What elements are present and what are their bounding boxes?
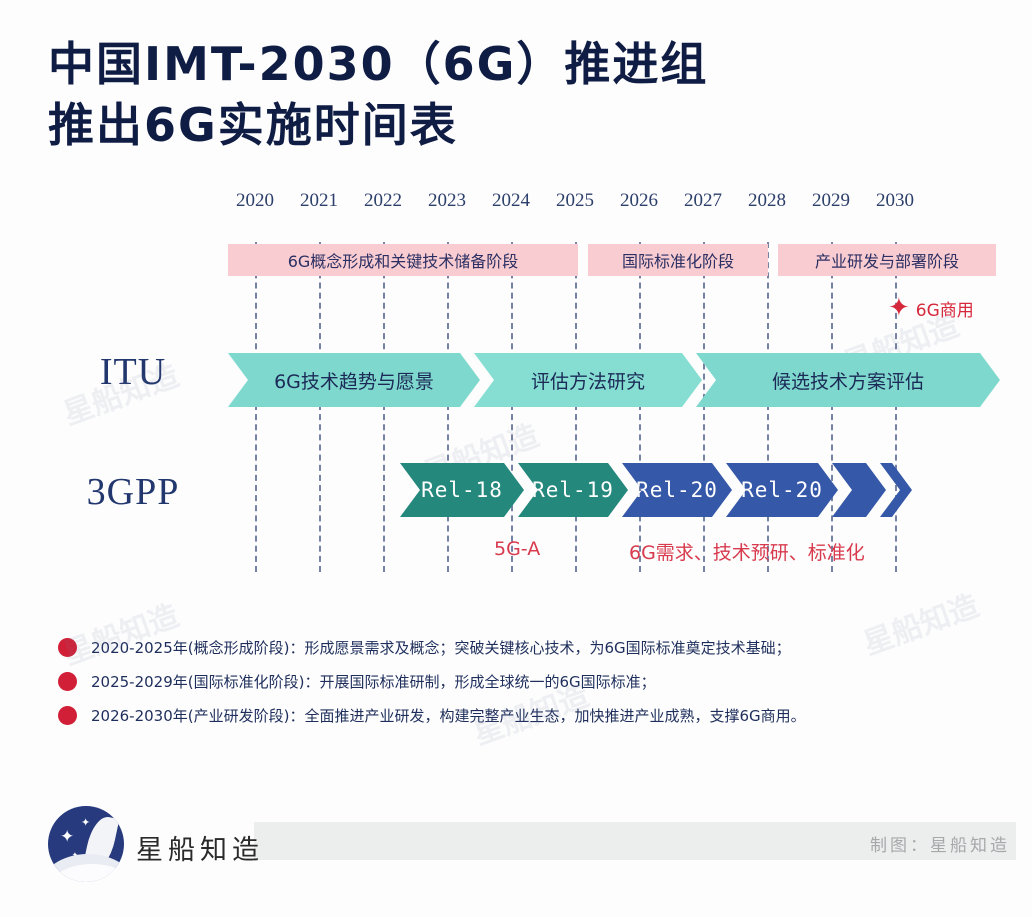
gridline-2024 (511, 242, 513, 572)
gpp-segment-5[interactable] (832, 463, 886, 517)
gridline-2026 (639, 242, 641, 572)
year-tick-2020: 2020 (219, 190, 291, 212)
year-tick-2022: 2022 (347, 190, 419, 212)
infographic-page: 星船知造 星船知造 星船知造 星船知造 星船知造 星船知造 中国IMT-2030… (0, 0, 1032, 917)
gpp-segment-rel20-a-label: Rel-20 (636, 478, 718, 502)
gridline-2022 (383, 242, 385, 572)
bullet-dot-icon (58, 706, 77, 725)
gridline-2028 (767, 242, 769, 572)
phase-band-standardization: 国际标准化阶段 (588, 244, 768, 276)
credit-label: 制图：星船知造 (870, 831, 1010, 856)
list-item: 2026-2030年(产业研发阶段)：全面推进产业研发，构建完整产业生态，加快推… (58, 698, 1018, 732)
title-line-1: 中国IMT-2030（6G）推进组 (48, 34, 948, 95)
bullet-dot-icon (58, 672, 77, 691)
phase-band-concept: 6G概念形成和关键技术储备阶段 (228, 244, 578, 276)
itu-segment-1[interactable]: 6G技术趋势与愿景 (228, 353, 480, 407)
year-tick-2021: 2021 (283, 190, 355, 212)
bullet-text-3: 2026-2030年(产业研发阶段)：全面推进产业研发，构建完整产业生态，加快推… (91, 705, 806, 726)
itu-segment-3[interactable]: 候选技术方案评估 (696, 353, 1000, 407)
milestone-label: 6G商用 (916, 296, 974, 321)
phase-band-industry: 产业研发与部署阶段 (778, 244, 996, 276)
gpp-segment-rel18[interactable]: Rel-18 (400, 463, 524, 517)
star-icon: ✦ (888, 295, 910, 321)
year-tick-2029: 2029 (795, 190, 867, 212)
bullet-dot-icon (58, 638, 77, 657)
gpp-segment-rel20-b[interactable]: Rel-20 (726, 463, 838, 517)
year-tick-2026: 2026 (603, 190, 675, 212)
gridline-2023 (447, 242, 449, 572)
gpp-segment-rel19-label: Rel-19 (532, 478, 614, 502)
gpp-segment-rel20-b-label: Rel-20 (741, 478, 823, 502)
bullet-text-2: 2025-2029年(国际标准化阶段)：开展国际标准研制，形成全球统一的6G国际… (91, 671, 656, 692)
list-item: 2020-2025年(概念形成阶段)：形成愿景需求及概念；突破关键核心技术，为6… (58, 630, 1018, 664)
year-tick-2025: 2025 (539, 190, 611, 212)
itu-track: 6G技术趋势与愿景 评估方法研究 候选技术方案评估 (0, 353, 1032, 407)
bullet-text-1: 2020-2025年(概念形成阶段)：形成愿景需求及概念；突破关键核心技术，为6… (91, 637, 791, 658)
gridline-2021 (319, 242, 321, 572)
gridline-2020 (255, 242, 257, 572)
list-item: 2025-2029年(国际标准化阶段)：开展国际标准研制，形成全球统一的6G国际… (58, 664, 1018, 698)
year-tick-2023: 2023 (411, 190, 483, 212)
gridline-2029 (831, 242, 833, 572)
brand-name: 星船知造 (136, 828, 264, 867)
gpp-segment-rel19[interactable]: Rel-19 (518, 463, 628, 517)
annotation-6g-requirements: 6G需求、技术预研、标准化 (629, 538, 865, 565)
year-tick-2024: 2024 (475, 190, 547, 212)
gridline-2027 (703, 242, 705, 572)
year-axis: 2020 2021 2022 2023 2024 2025 2026 2027 … (0, 190, 1032, 224)
annotation-5g-a: 5G-A (494, 538, 540, 560)
itu-segment-2[interactable]: 评估方法研究 (474, 353, 702, 407)
brand-logo-icon: ✦ ✦ ✦ ✦ (48, 806, 124, 882)
gpp-track: Rel-18 Rel-19 Rel-20 Rel-20 (0, 463, 1032, 517)
title-line-2: 推出6G实施时间表 (48, 95, 948, 156)
timeline-chart: 2020 2021 2022 2023 2024 2025 2026 2027 … (0, 190, 1032, 600)
year-tick-2027: 2027 (667, 190, 739, 212)
star-sparkle-icon: ✦ (60, 828, 74, 845)
gpp-segment-rel20-a[interactable]: Rel-20 (622, 463, 732, 517)
footer: ✦ ✦ ✦ ✦ 星船知造 制图：星船知造 (0, 800, 1032, 890)
year-tick-2028: 2028 (731, 190, 803, 212)
bullet-list: 2020-2025年(概念形成阶段)：形成愿景需求及概念；突破关键核心技术，为6… (58, 630, 1018, 732)
gridline-2030 (895, 242, 897, 572)
page-title: 中国IMT-2030（6G）推进组 推出6G实施时间表 (48, 34, 948, 155)
gpp-segment-rel18-label: Rel-18 (421, 478, 503, 502)
year-tick-2030: 2030 (859, 190, 931, 212)
gridline-2025 (575, 242, 577, 572)
star-sparkle-icon: ✦ (81, 818, 90, 829)
milestone-6g-commercial: ✦ 6G商用 (888, 295, 974, 321)
